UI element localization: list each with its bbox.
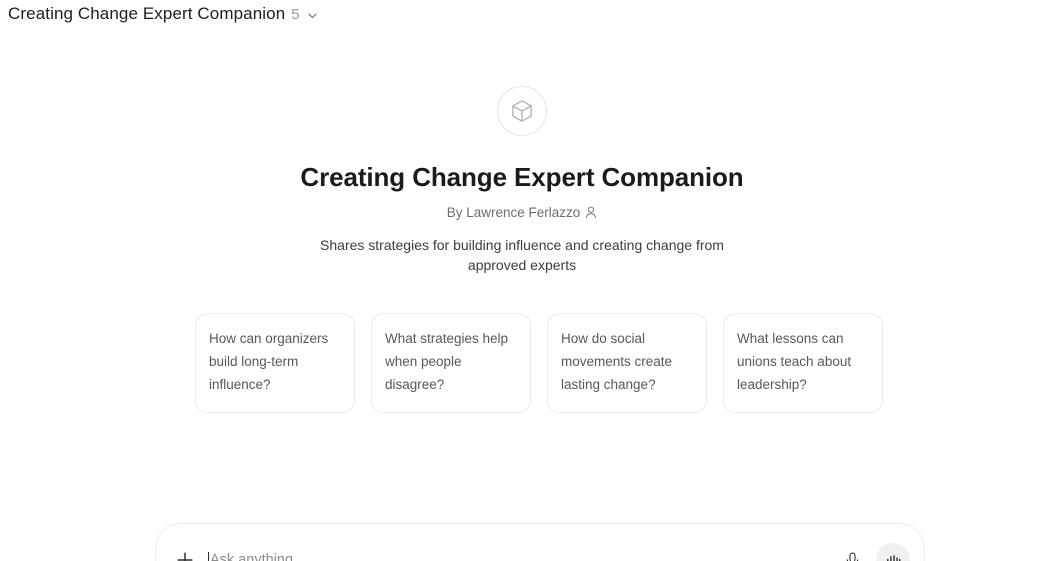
person-icon <box>585 206 597 219</box>
chevron-down-icon[interactable] <box>306 9 319 22</box>
topbar-message-count: 5 <box>291 6 299 23</box>
suggestion-card[interactable]: What strategies help when people disagre… <box>371 313 531 413</box>
cube-icon <box>497 86 547 136</box>
suggestion-cards: How can organizers build long-term influ… <box>195 313 885 413</box>
suggestion-card[interactable]: How can organizers build long-term influ… <box>195 313 355 413</box>
hero-section: Creating Change Expert Companion By Lawr… <box>0 86 1044 275</box>
suggestion-card[interactable]: What lessons can unions teach about lead… <box>723 313 883 413</box>
page-description: Shares strategies for building influence… <box>312 235 732 275</box>
microphone-icon[interactable] <box>839 547 865 561</box>
text-caret <box>208 552 209 561</box>
message-input[interactable]: Ask anything <box>208 547 829 561</box>
voice-waveform-icon[interactable] <box>876 543 910 561</box>
composer-actions <box>839 543 910 561</box>
suggestion-card[interactable]: How do social movements create lasting c… <box>547 313 707 413</box>
page-title: Creating Change Expert Companion <box>300 163 743 192</box>
author-byline: By Lawrence Ferlazzo <box>447 205 598 220</box>
composer-bar: Ask anything <box>155 523 925 561</box>
message-input-placeholder: Ask anything <box>210 552 293 561</box>
topbar-title: Creating Change Expert Companion <box>8 4 285 24</box>
topbar: Creating Change Expert Companion 5 <box>0 0 319 28</box>
plus-icon[interactable] <box>172 547 198 561</box>
chat-start-screen: Creating Change Expert Companion 5 Creat… <box>0 0 1044 561</box>
author-name: By Lawrence Ferlazzo <box>447 205 581 220</box>
